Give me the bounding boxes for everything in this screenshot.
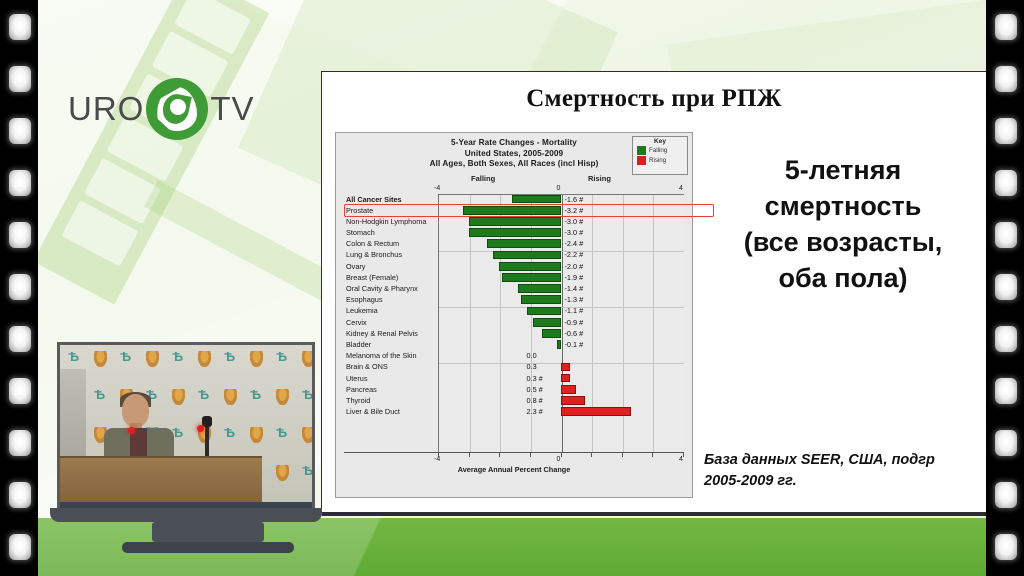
film-perforation [995,118,1017,144]
film-perforation [995,222,1017,248]
chart-top-axis-numbers: -404 [336,185,692,194]
wall-emblem-motif [146,351,159,367]
slide-bottom-edge [322,512,986,516]
film-strip-left [0,0,38,576]
wall-logo-motif: Ѣ [172,349,183,364]
chart-axis-tick [561,453,562,457]
chart-row-label: Liver & Bile Duct [346,406,400,417]
presentation-slide: Смертность при РПЖ 5-Year Rate Changes -… [322,72,986,512]
video-marker-dot-1 [128,427,135,434]
wall-emblem-motif [302,351,315,367]
chart-bar [512,195,561,204]
legend-swatch-rising-icon [637,156,646,165]
film-perforation [995,482,1017,508]
film-perforation [995,326,1017,352]
chart-axis-tick-label: -4 [434,456,440,463]
chart-axis-tick-label: 0 [557,456,561,463]
label-rising: Rising [588,174,611,183]
chart-bar [527,307,561,316]
chart-axis-tick [652,453,653,457]
legend-label-falling: Falling [649,147,667,154]
decorative-film-ribbon [38,0,269,305]
chart-bar [561,385,576,394]
chart-value-label: 0.0 [527,350,537,361]
monitor-base [122,542,294,553]
chart-value-label: -3.0 # [565,227,584,238]
chart-axis-tick [499,453,500,457]
chart-bar [561,396,586,405]
chart-bar [499,262,560,271]
slide-source-caption: База данных SEER, США, подгр 2005-2009 г… [704,450,988,492]
chart-top-tick-label: 4 [679,185,683,192]
chart-row-label: Oral Cavity & Pharynx [346,283,418,294]
chart-row: Brain & ONS0.3 [344,361,684,372]
video-marker-dot-2 [197,425,204,432]
chart-row: Lung & Bronchus-2.2 # [344,249,684,260]
chart-value-label: 0.8 # [527,395,543,406]
chart-legend: Key Falling Rising [632,136,688,175]
chart-row-label: Lung & Bronchus [346,249,402,260]
page-title: Смертность при РПЖ [322,72,986,113]
chart-row: Oral Cavity & Pharynx-1.4 # [344,283,684,294]
screenshot-stage: URO TV ѢѢѢѢѢѢѢѢѢѢѢѢѢѢѢѢѢѢѢѢѢѢѢѢѢ Смертно… [0,0,1024,576]
film-perforation [9,482,31,508]
chart-value-label: -1.3 # [565,294,584,305]
chart-value-label: -0.6 # [565,328,584,339]
chart-value-label: -3.0 # [565,216,584,227]
film-perforation [9,14,31,40]
chart-x-axis: -404 [344,452,684,464]
video-doorway [60,369,86,461]
chart-row: All Cancer Sites-1.6 # [344,194,684,205]
chart-row: Breast (Female)-1.9 # [344,272,684,283]
wall-logo-motif: Ѣ [224,425,235,440]
chart-row-label: Brain & ONS [346,361,388,372]
wall-emblem-motif [302,427,315,443]
film-strip-right [986,0,1024,576]
video-speaker [104,394,174,460]
label-falling: Falling [471,174,495,183]
legend-swatch-falling-icon [637,146,646,155]
chart-value-label: -0.1 # [565,339,584,350]
chart-row-label: Non-Hodgkin Lymphoma [346,216,426,227]
chart-value-label: 0.3 # [527,373,543,384]
wall-logo-motif: Ѣ [68,349,79,364]
chart-axis-tick-label: 4 [679,456,683,463]
chart-row: Pancreas0.5 # [344,384,684,395]
wall-emblem-motif [250,351,263,367]
chart-rows: All Cancer Sites-1.6 #Prostate-3.2 #Non-… [344,194,684,452]
chart-value-label: -2.2 # [565,249,584,260]
chart-axis-tick [591,453,592,457]
chart-row-label: Breast (Female) [346,272,398,283]
chart-bar [518,284,561,293]
film-perforation [995,430,1017,456]
film-perforation [9,222,31,248]
right-text-line-1: 5-летняя [712,152,974,188]
chart-row: Stomach-3.0 # [344,227,684,238]
wall-logo-motif: Ѣ [120,349,131,364]
chart-row-label: Ovary [346,261,365,272]
chart-axis-tick [622,453,623,457]
chart-bar [463,206,561,215]
chart-row: Melanoma of the Skin0.0 [344,350,684,361]
chart-value-label: -1.1 # [565,305,584,316]
chart-row-label: Esophagus [346,294,383,305]
chart-top-tick-label: -4 [434,185,440,192]
chart-value-label: -2.4 # [565,238,584,249]
film-perforation [9,430,31,456]
chart-bar [561,407,631,416]
chart-row-label: Leukemia [346,305,378,316]
wall-logo-motif: Ѣ [250,387,261,402]
chart-axis-tick [683,453,684,457]
wall-emblem-motif [224,389,237,405]
chart-row-label: Melanoma of the Skin [346,350,417,361]
chart-plot-area: All Cancer Sites-1.6 #Prostate-3.2 #Non-… [344,194,684,452]
film-perforation [9,170,31,196]
right-text-line-2: смертность [712,188,974,224]
logo-text-uro: URO [68,90,144,128]
wall-logo-motif: Ѣ [198,387,209,402]
caption-line-1: База данных SEER, США, подгр [704,450,988,471]
chart-value-label: -0.9 # [565,317,584,328]
chart-row: Colon & Rectum-2.4 # [344,238,684,249]
conference-speaker-thumbnail[interactable]: ѢѢѢѢѢѢѢѢѢѢѢѢѢѢѢѢѢѢѢѢѢѢѢѢѢ [57,342,315,515]
chart-bar [557,340,560,349]
wall-logo-motif: Ѣ [302,463,313,478]
film-perforation [9,274,31,300]
chart-row-label: Pancreas [346,384,377,395]
chart-row-label: All Cancer Sites [346,194,402,205]
wall-logo-motif: Ѣ [276,425,287,440]
chart-bar [487,239,561,248]
seer-mortality-chart: 5-Year Rate Changes - Mortality United S… [335,132,693,498]
chart-value-label: 2.3 # [527,406,543,417]
chart-row: Ovary-2.0 # [344,261,684,272]
film-perforation [995,378,1017,404]
film-perforation [995,534,1017,560]
chart-row-label: Uterus [346,373,368,384]
logo-text-tv: TV [210,90,254,128]
legend-label-rising: Rising [649,157,666,164]
chart-row: Esophagus-1.3 # [344,294,684,305]
chart-row: Uterus0.3 # [344,373,684,384]
chart-row: Kidney & Renal Pelvis-0.6 # [344,328,684,339]
legend-entry-rising: Rising [637,156,687,165]
chart-bar [502,273,560,282]
chart-row: Thyroid0.8 # [344,395,684,406]
chart-bar [521,295,561,304]
film-perforation [995,274,1017,300]
video-microphone [205,424,209,458]
monitor-bezel [50,508,322,522]
wall-emblem-motif [250,427,263,443]
chart-axis-tick [469,453,470,457]
monitor-neck [152,522,264,542]
chart-header: 5-Year Rate Changes - Mortality United S… [336,133,692,172]
wall-logo-motif: Ѣ [302,387,313,402]
chart-row-label: Thyroid [346,395,370,406]
chart-value-label: -1.6 # [565,194,584,205]
chart-row: Non-Hodgkin Lymphoma-3.0 # [344,216,684,227]
chart-value-label: -3.2 # [565,205,584,216]
chart-bar [533,318,561,327]
urotv-logo: URO TV [68,78,255,140]
legend-entry-falling: Falling [637,146,687,155]
chart-row-label: Stomach [346,227,375,238]
chart-row: Bladder-0.1 # [344,339,684,350]
slide-right-text: 5-летняя смертность (все возрасты, оба п… [712,152,974,296]
chart-bar [469,228,561,237]
chart-value-label: -1.9 # [565,272,584,283]
film-perforation [9,378,31,404]
chart-value-label: -2.0 # [565,261,584,272]
chart-row: Cervix-0.9 # [344,317,684,328]
wall-emblem-motif [94,351,107,367]
chart-row: Liver & Bile Duct2.3 # [344,406,684,417]
right-text-line-3: (все возрасты, [712,224,974,260]
direction-labels: Falling Rising [336,174,692,185]
film-perforation [995,66,1017,92]
chart-row-label: Bladder [346,339,371,350]
film-perforation [9,118,31,144]
chart-bar [469,217,561,226]
chart-bar [561,363,570,372]
right-text-line-4: оба пола) [712,260,974,296]
chart-row: Prostate-3.2 # [344,205,684,216]
chart-row: Leukemia-1.1 # [344,305,684,316]
caption-line-2: 2005-2009 гг. [704,471,988,492]
legend-title: Key [633,138,687,145]
chart-axis-tick [530,453,531,457]
urotv-emblem-icon [146,78,208,140]
wall-logo-motif: Ѣ [224,349,235,364]
wall-logo-motif: Ѣ [276,349,287,364]
chart-top-tick-label: 0 [557,185,561,192]
wall-emblem-motif [276,465,289,481]
chart-x-axis-title: Average Annual Percent Change [336,465,692,474]
chart-row-label: Cervix [346,317,367,328]
film-perforation [995,14,1017,40]
film-perforation [9,326,31,352]
chart-row-label: Colon & Rectum [346,238,399,249]
chart-row-label: Kidney & Renal Pelvis [346,328,418,339]
chart-bar [493,251,560,260]
chart-row-label: Prostate [346,205,373,216]
wall-emblem-motif [198,351,211,367]
chart-bar [542,329,560,338]
film-perforation [9,534,31,560]
chart-bar [561,374,570,383]
chart-value-label: 0.3 [527,361,537,372]
wall-emblem-motif [276,389,289,405]
chart-value-label: 0.5 # [527,384,543,395]
chart-value-label: -1.4 # [565,283,584,294]
film-perforation [995,170,1017,196]
film-perforation [9,66,31,92]
